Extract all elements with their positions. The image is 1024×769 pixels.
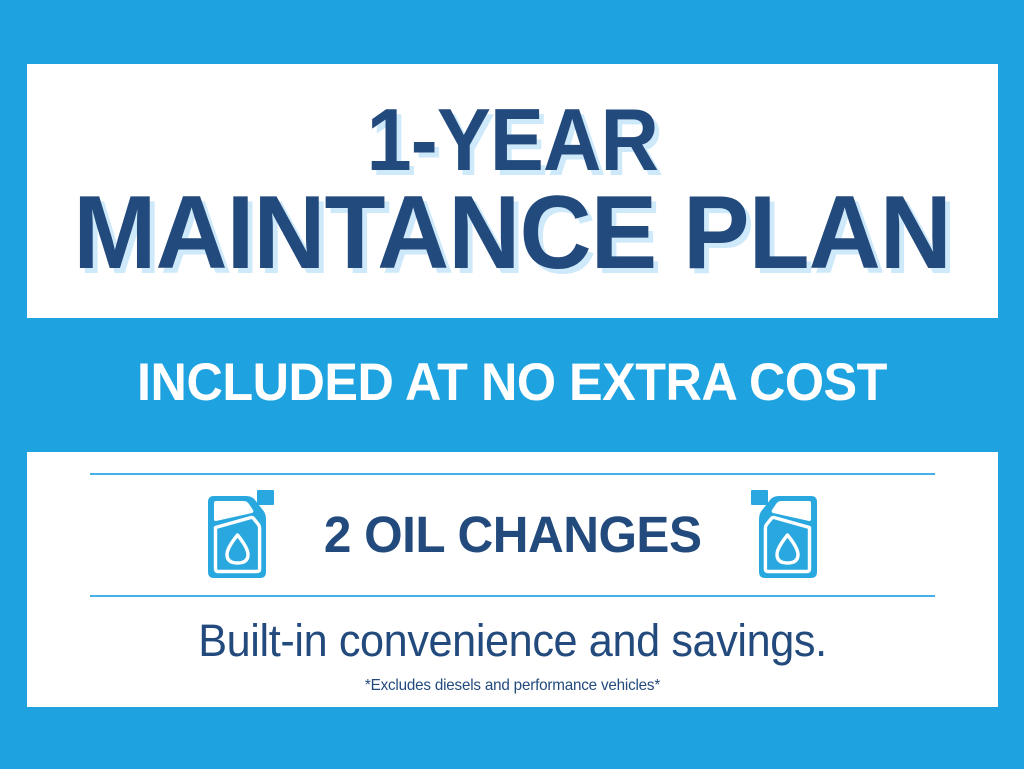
disclaimer: *Excludes diesels and performance vehicl… <box>51 677 973 695</box>
headline-line-2: MAINTANCE PLAN <box>74 184 952 284</box>
tagline: Built-in convenience and savings. <box>46 615 978 667</box>
divider-bottom <box>90 595 935 597</box>
offer-row: 2 OIL CHANGES <box>27 479 998 589</box>
promo-card: 1-YEAR MAINTANCE PLAN INCLUDED AT NO EXT… <box>0 0 1024 769</box>
divider-top <box>90 473 935 475</box>
oil-can-icon <box>202 488 280 580</box>
details-panel: 2 OIL CHANGES Built-in convenience and s… <box>27 452 998 707</box>
oil-can-icon <box>745 488 823 580</box>
offer-label: 2 OIL CHANGES <box>324 505 702 564</box>
headline-panel: 1-YEAR MAINTANCE PLAN <box>27 64 998 318</box>
subheadline: INCLUDED AT NO EXTRA COST <box>26 352 999 413</box>
headline-line-1: 1-YEAR <box>367 98 658 182</box>
